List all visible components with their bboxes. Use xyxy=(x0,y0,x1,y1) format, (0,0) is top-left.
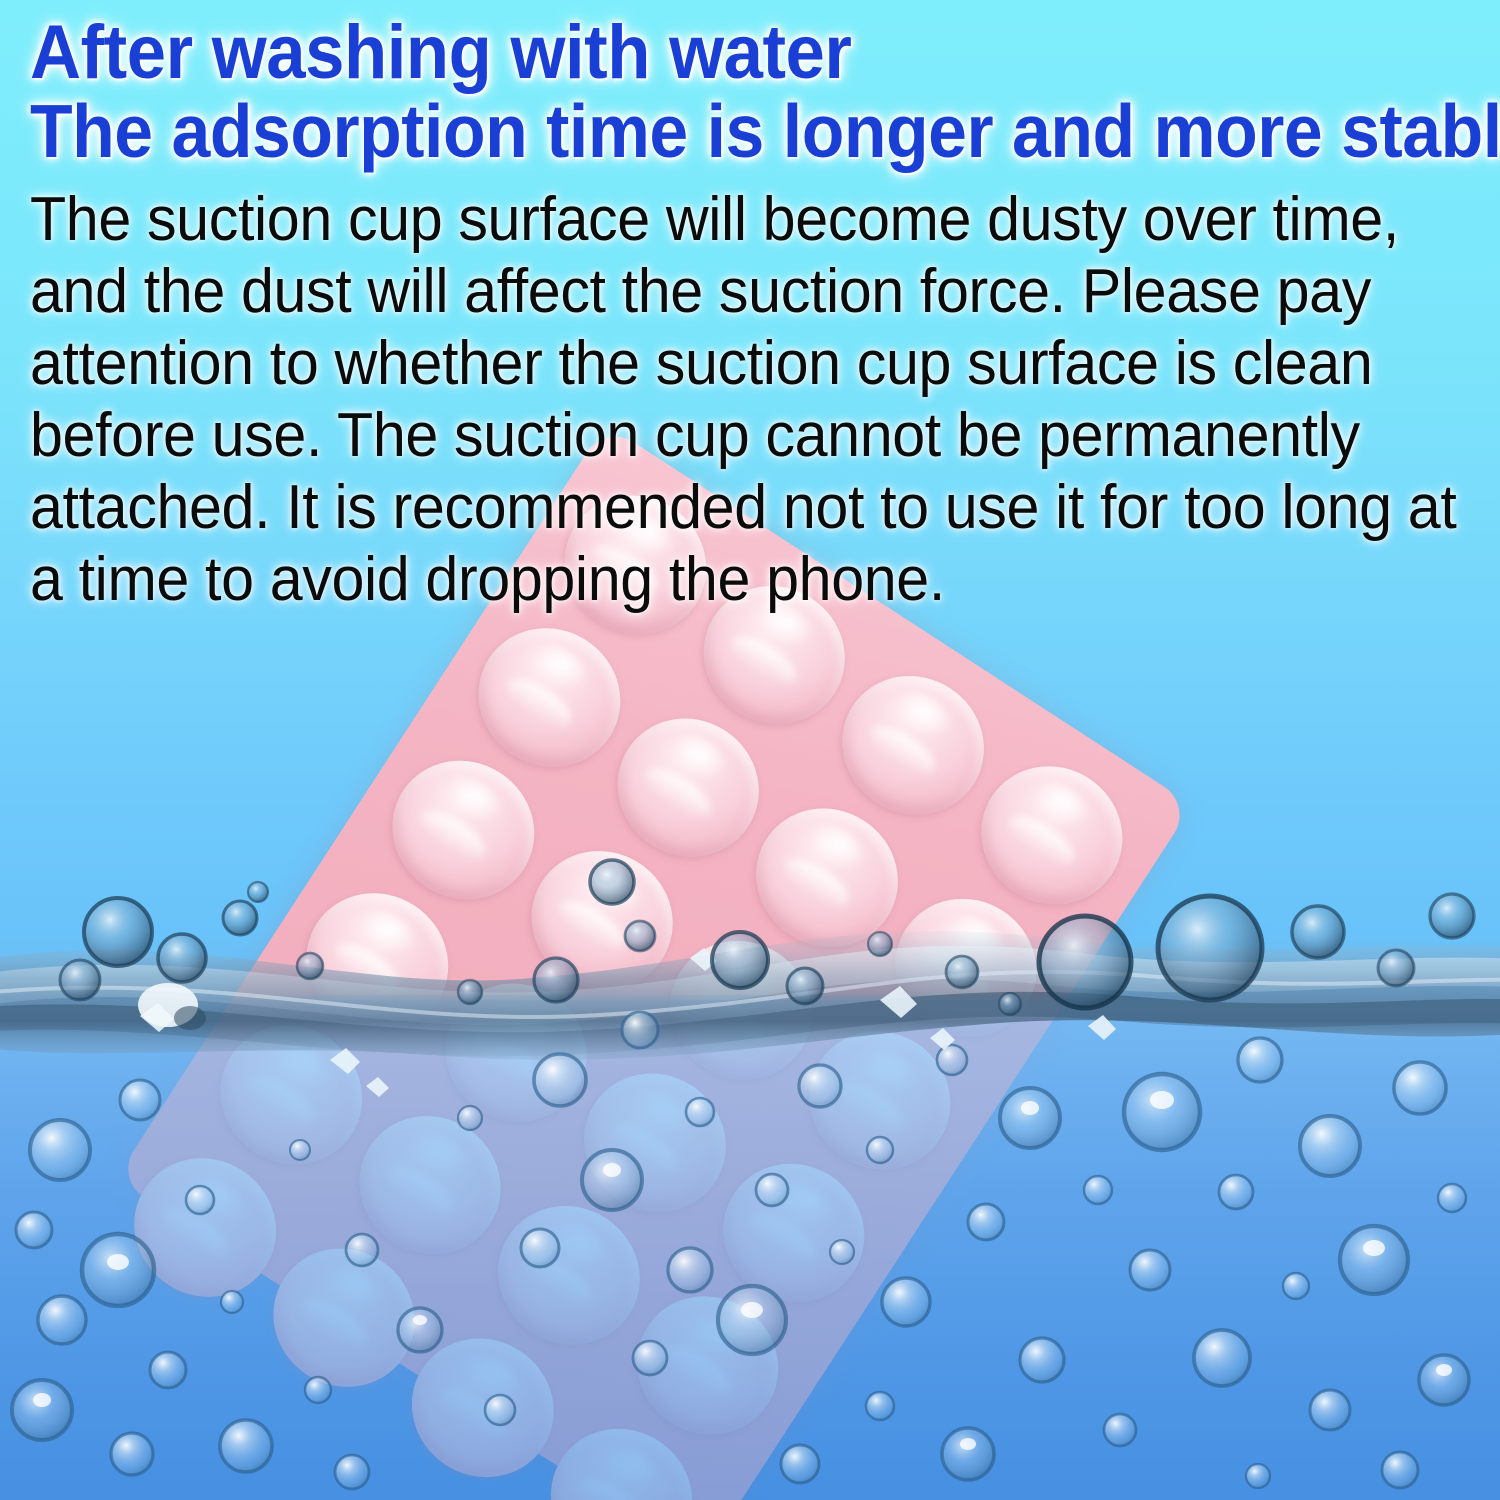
body-paragraph: The suction cup surface will become dust… xyxy=(30,184,1500,616)
product-infographic-poster: After washing with water The adsorption … xyxy=(0,0,1500,1500)
headline-line-2: The adsorption time is longer and more s… xyxy=(30,92,1369,170)
headline-line-1: After washing with water xyxy=(30,14,1369,92)
text-block: After washing with water The adsorption … xyxy=(0,0,1500,616)
